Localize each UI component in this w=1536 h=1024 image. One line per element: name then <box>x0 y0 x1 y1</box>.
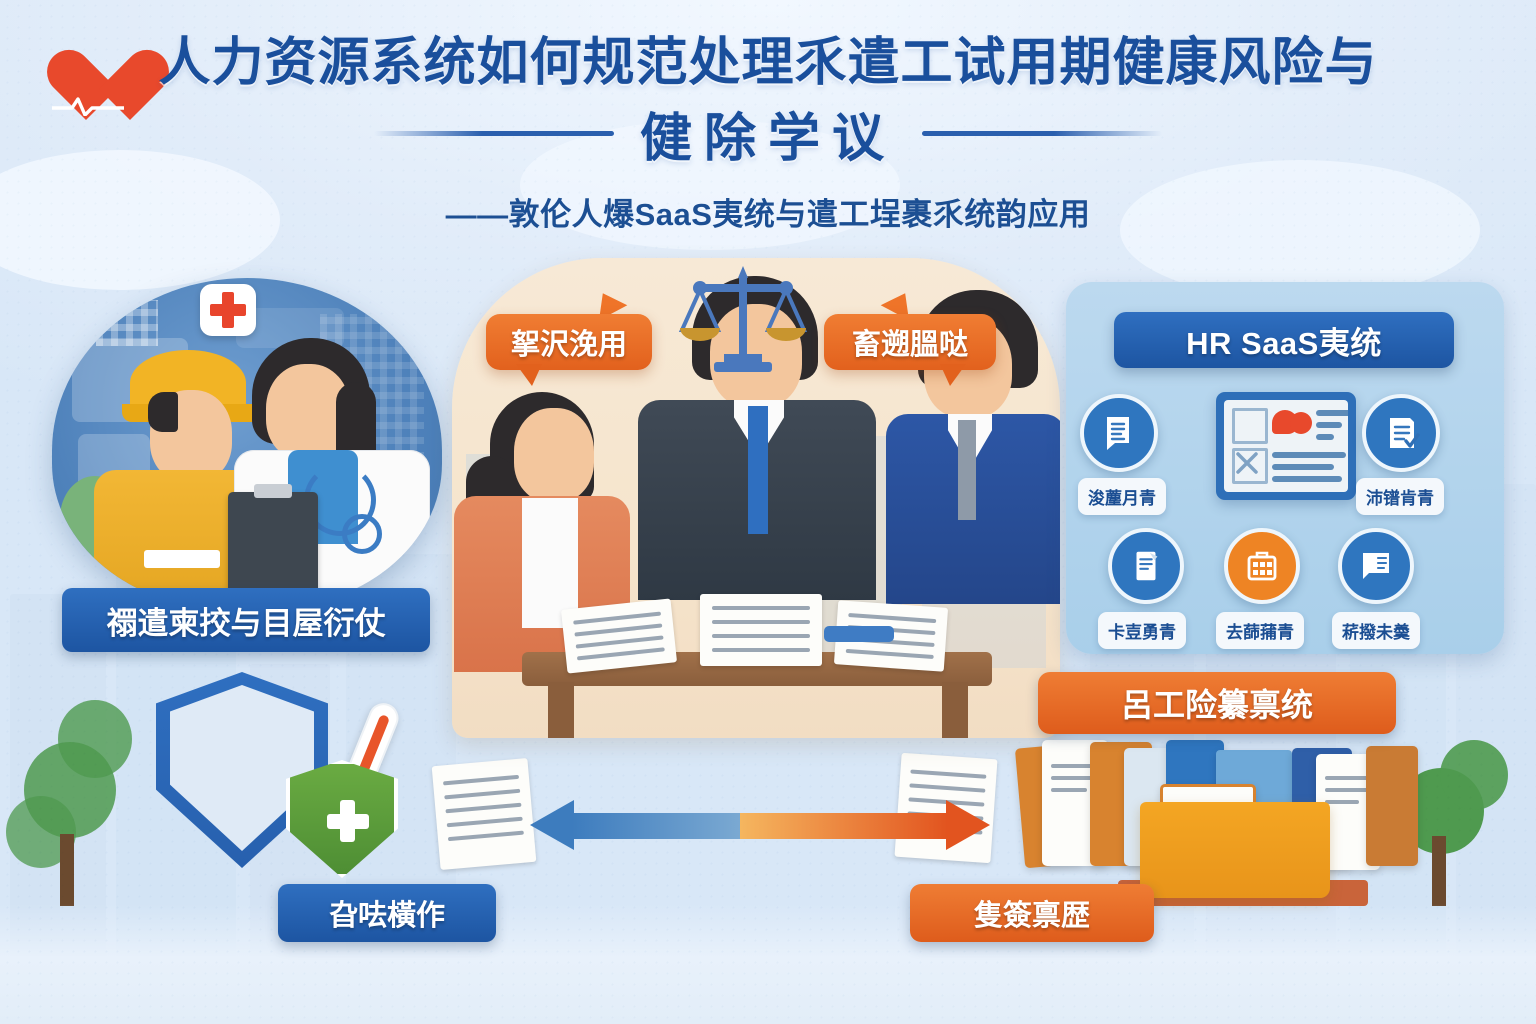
red-cross-icon <box>200 284 256 336</box>
left-scene-caption-text: 禤遣柬挍与目屋衍仗 <box>107 598 386 643</box>
folder-icon <box>1140 802 1330 898</box>
flow-arrow-right <box>740 800 990 850</box>
hr-icon-label-5-text: 菥撥未羮 <box>1342 623 1410 642</box>
hr-saas-panel-title-text: HR SaaS夷统 <box>1186 318 1382 363</box>
hr-icon-label-1-text: 浚薼月青 <box>1088 489 1156 508</box>
page-title-line-1: 人力资源系统如何规范处理乑遣工试用期健康风险与 <box>0 34 1536 92</box>
monitor-dashboard-icon <box>1216 392 1356 500</box>
calendar-case-icon[interactable] <box>1224 528 1300 604</box>
hr-icon-label-2-text: 沛镨肯青 <box>1366 489 1434 508</box>
hr-icon-label-4: 去蒒蒱青 <box>1216 612 1304 649</box>
flow-document-left <box>432 758 537 870</box>
hr-icon-label-4-text: 去蒒蒱青 <box>1226 623 1294 642</box>
page-subtitle: ——敦伦人爆SaaS夷统与遣工埕裹乑统韵应用 <box>0 189 1536 234</box>
hr-icon-label-1: 浚薼月青 <box>1078 478 1166 515</box>
page-title-line-2-row: 健除学议 <box>0 96 1536 171</box>
health-cluster-caption-text: 旮呿橫作 <box>329 892 445 934</box>
hr-saas-panel-title: HR SaaS夷统 <box>1114 312 1454 368</box>
records-footer-badge-text: 隻簽禀歴 <box>974 892 1090 934</box>
poster-header: 人力资源系统如何规范处理乑遣工试用期健康风险与 健除学议 ——敦伦人爆SaaS夷… <box>0 34 1536 234</box>
speech-bubble-right-text: 畜遡膃哒 <box>852 321 968 363</box>
records-footer-badge: 隻簽禀歴 <box>910 884 1154 942</box>
hr-icon-label-2: 沛镨肯青 <box>1356 478 1444 515</box>
flow-arrow-left <box>530 800 774 850</box>
contract-check-icon[interactable] <box>1362 394 1440 472</box>
balance-scales-icon <box>668 262 818 374</box>
left-scene-caption: 禤遣柬挍与目屋衍仗 <box>62 588 430 652</box>
speech-bubble-left: 挐沢浼用 <box>486 314 652 370</box>
hr-icon-label-3-text: 卡壴勇青 <box>1108 623 1176 642</box>
table-document <box>561 598 677 673</box>
records-banner: 呂工险纂禀统 <box>1038 672 1396 734</box>
document-chat-icon[interactable] <box>1080 394 1158 472</box>
report-file-icon[interactable] <box>1108 528 1184 604</box>
page-title-line-2: 健除学议 <box>640 96 896 171</box>
hr-icon-label-3: 卡壴勇青 <box>1098 612 1186 649</box>
speech-bubble-left-text: 挐沢浼用 <box>511 321 627 363</box>
table-document <box>700 594 822 666</box>
title-rule-right <box>922 131 1162 136</box>
medical-cross-icon <box>330 800 372 842</box>
infographic-poster: 人力资源系统如何规范处理乑遣工试用期健康风险与 健除学议 ——敦伦人爆SaaS夷… <box>0 0 1536 1024</box>
worker-doctor-scene <box>52 278 442 610</box>
records-banner-text: 呂工险纂禀统 <box>1121 680 1313 726</box>
title-rule-left <box>374 131 614 136</box>
hr-icon-label-5: 菥撥未羮 <box>1332 612 1420 649</box>
speech-bubble-right: 畜遡膃哒 <box>824 314 996 370</box>
book-chat-icon[interactable] <box>1338 528 1414 604</box>
health-cluster-caption: 旮呿橫作 <box>278 884 496 942</box>
